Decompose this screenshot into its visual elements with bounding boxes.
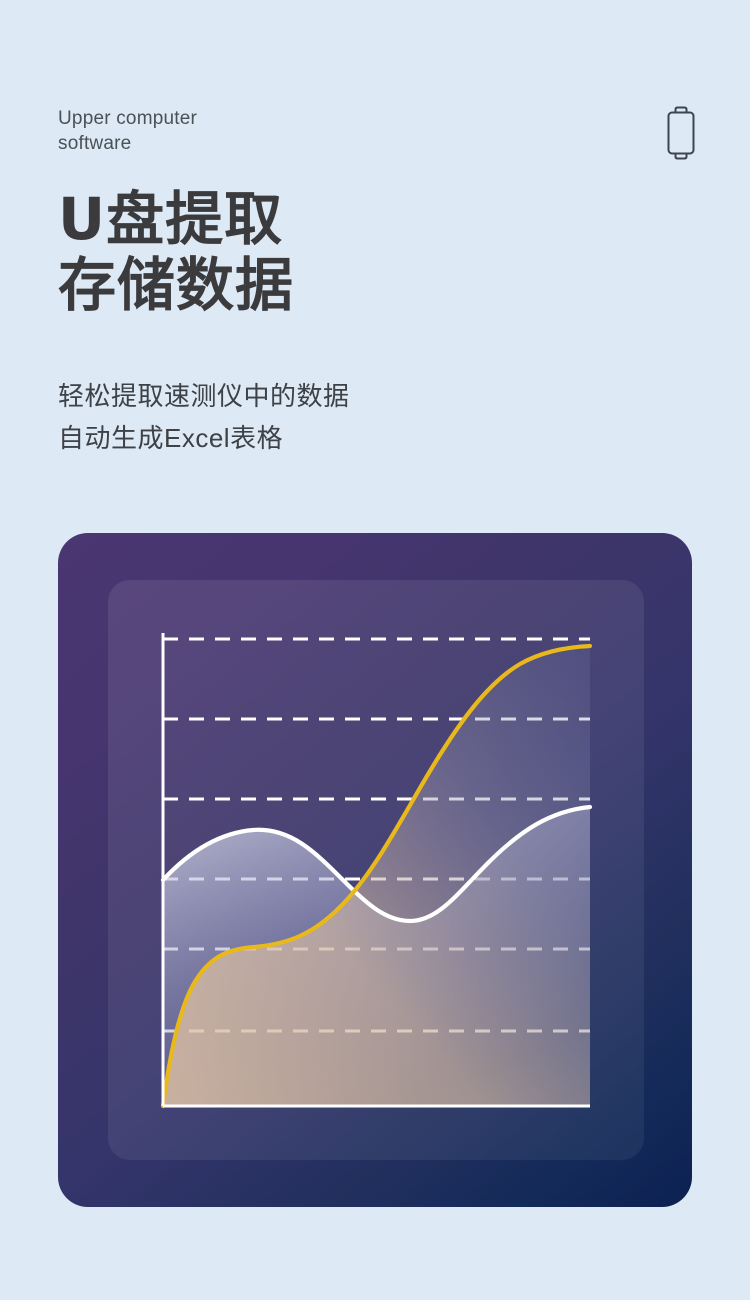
chart-card (58, 533, 692, 1207)
page-title: U盘提取 存储数据 (58, 186, 294, 318)
eyebrow-text: Upper computer software (58, 106, 197, 156)
usb-flash-drive-icon (664, 104, 698, 162)
page-subtitle: 轻松提取速测仪中的数据 自动生成Excel表格 (58, 375, 350, 459)
line-chart (58, 533, 692, 1207)
page-root: Upper computer software U盘提取 存储数据 轻松提取速测… (0, 0, 750, 1300)
